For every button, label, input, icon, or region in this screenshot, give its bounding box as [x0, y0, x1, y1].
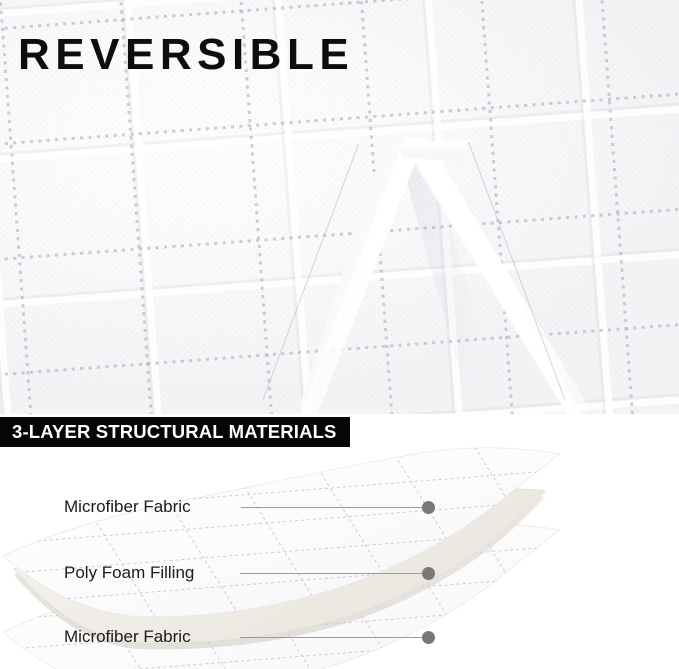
- leader-line-bottom-microfiber: [240, 637, 429, 638]
- callout-label-top-microfiber: Microfiber Fabric: [64, 498, 191, 515]
- leader-line-top-microfiber: [241, 507, 429, 508]
- section-banner-label: 3-LAYER STRUCTURAL MATERIALS: [12, 423, 337, 442]
- section-banner: 3-LAYER STRUCTURAL MATERIALS: [0, 417, 350, 447]
- callout-poly-foam: Poly Foam Filling: [64, 561, 194, 583]
- node-dot-top-microfiber: [422, 501, 435, 514]
- callout-bottom-microfiber: Microfiber Fabric: [64, 625, 191, 647]
- product-infographic: REVERSIBLE 3-LAYER STRUCTURAL MATERIALS: [0, 0, 679, 669]
- page-title: REVERSIBLE: [18, 33, 354, 77]
- leader-line-poly-foam: [240, 573, 429, 574]
- callout-top-microfiber: Microfiber Fabric: [64, 495, 191, 517]
- product-photo-panel: REVERSIBLE: [0, 0, 679, 414]
- node-dot-poly-foam: [422, 567, 435, 580]
- node-dot-bottom-microfiber: [422, 631, 435, 644]
- callout-label-bottom-microfiber: Microfiber Fabric: [64, 628, 191, 645]
- callout-label-poly-foam: Poly Foam Filling: [64, 564, 194, 581]
